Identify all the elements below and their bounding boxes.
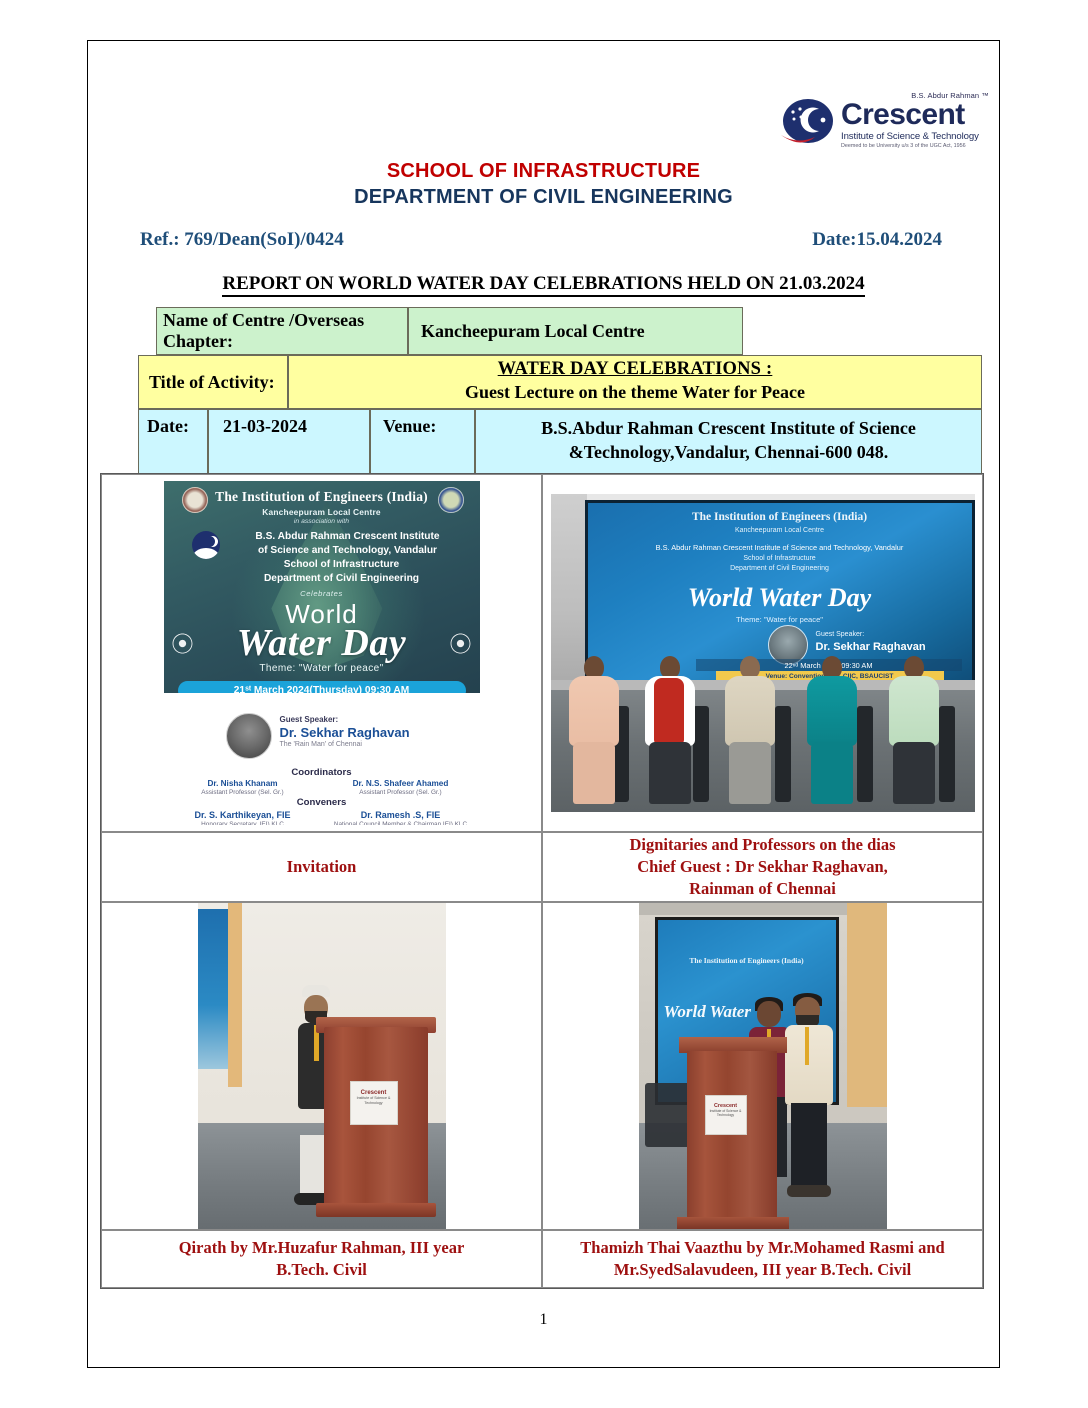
poster-speaker-tagline: The 'Rain Man' of Chennai xyxy=(280,741,362,748)
centre-value-cell: Kancheepuram Local Centre xyxy=(408,307,743,355)
thamizh-podium-base xyxy=(677,1217,789,1229)
poster-date-bar: 21ˢᵗ March 2024(Thursday) 09:30 AM xyxy=(178,681,466,693)
qirath-podium-plate: Crescent Institute of Science & Technolo… xyxy=(350,1081,398,1125)
qirath-podium-base xyxy=(316,1203,436,1217)
crescent-moon-star-logo-icon xyxy=(779,95,837,147)
venue-label-cell: Venue: xyxy=(370,409,475,483)
convener-role: National Council Member & Chairman IEI) … xyxy=(322,821,480,825)
department-name: DEPARTMENT OF CIVIL ENGINEERING xyxy=(88,185,999,211)
seated-person xyxy=(563,656,625,806)
qirath-caption-line1: Qirath by Mr.Huzafur Rahman, III year xyxy=(108,1237,535,1259)
document-date: Date:15.04.2024 xyxy=(812,229,942,251)
page-title: REPORT ON WORLD WATER DAY CELEBRATIONS H… xyxy=(88,273,999,295)
caption-row-2: Qirath by Mr.Huzafur Rahman, III year B.… xyxy=(101,1230,983,1288)
poster-top-panel: The Institution of Engineers (India) Kan… xyxy=(164,481,480,693)
document-page: B.S. Abdur Rahman ™ Crescent Institute o… xyxy=(87,40,1000,1368)
convener-role: Honorary Secretary, IEI) KLC xyxy=(164,821,322,825)
thamizh-podium-plate: Crescent Institute of Science & Technolo… xyxy=(705,1095,747,1135)
podium-plate-subtitle: Institute of Science & Technology xyxy=(706,1109,746,1118)
venue-line1: B.S.Abdur Rahman Crescent Institute of S… xyxy=(541,416,916,440)
dais-screen-worldwaterday: World Water Day xyxy=(588,583,972,613)
invitation-poster-image: The Institution of Engineers (India) Kan… xyxy=(164,481,480,825)
poster-theme-text: Theme: "Water for peace" xyxy=(164,663,480,674)
dais-screen-school: School of Infrastructure xyxy=(588,555,972,562)
page-number: 1 xyxy=(88,1311,999,1329)
date-value-cell: 21-03-2024 xyxy=(208,409,370,483)
crescent-logo: B.S. Abdur Rahman ™ Crescent Institute o… xyxy=(779,91,991,161)
dais-screen-guest-name: Dr. Sekhar Raghavan xyxy=(816,641,926,653)
dais-screen-title: The Institution of Engineers (India) xyxy=(588,511,972,523)
convener-name: Dr. Ramesh .S, FIE xyxy=(322,810,480,821)
photo-row-2: Crescent Institute of Science & Technolo… xyxy=(101,902,983,1230)
activity-info-table: Name of Centre /Overseas Chapter: Kanche… xyxy=(88,307,1001,483)
invitation-caption-cell: Invitation xyxy=(101,832,542,902)
coordinator-name: Dr. Nisha Khanam xyxy=(164,779,322,789)
qirath-caption-cell: Qirath by Mr.Huzafur Rahman, III year B.… xyxy=(101,1230,542,1288)
dignitaries-caption-line1: Dignitaries and Professors on the dias xyxy=(549,834,976,856)
dignitaries-on-dais-image: The Institution of Engineers (India) Kan… xyxy=(551,494,975,812)
reference-number: Ref.: 769/Dean(SoI)/0424 xyxy=(140,229,344,251)
qirath-wall-edge xyxy=(228,902,242,1087)
activity-title-line1: WATER DAY CELEBRATIONS : xyxy=(498,359,773,380)
thamizh-caption-line2: Mr.SyedSalavudeen, III year B.Tech. Civi… xyxy=(549,1259,976,1281)
activity-title-value-cell: WATER DAY CELEBRATIONS : Guest Lecture o… xyxy=(288,355,982,409)
poster-institute-line1: B.S. Abdur Rahman Crescent Institute xyxy=(224,531,472,542)
table-row-date-venue: Date: 21-03-2024 Venue: B.S.Abdur Rahman… xyxy=(88,409,1001,483)
date-label-cell: Date: xyxy=(138,409,208,483)
reference-date-row: Ref.: 769/Dean(SoI)/0424 Date:15.04.2024 xyxy=(140,229,942,251)
seated-person xyxy=(639,656,701,806)
qirath-recitation-image: Crescent Institute of Science & Technolo… xyxy=(198,902,446,1230)
table-row-title: Title of Activity: WATER DAY CELEBRATION… xyxy=(88,355,1001,409)
poster-celebrates-text: Celebrates xyxy=(164,589,480,598)
poster-school-line: School of Infrastructure xyxy=(212,559,472,570)
seated-person xyxy=(801,656,863,806)
dignitaries-caption-line2: Chief Guest : Dr Sekhar Raghavan, xyxy=(549,856,976,878)
seated-person xyxy=(719,656,781,806)
poster-speaker-label: Guest Speaker: xyxy=(280,715,339,724)
dais-screen-institute: B.S. Abdur Rahman Crescent Institute of … xyxy=(588,543,972,552)
poster-conveners-heading: Conveners xyxy=(164,797,480,808)
thamizh-chairs xyxy=(645,1083,693,1147)
poster-iei-title: The Institution of Engineers (India) xyxy=(164,489,480,505)
dignitaries-caption-line3: Rainman of Chennai xyxy=(549,878,976,900)
poster-waterday-text: Water Day xyxy=(164,621,480,665)
dais-screen-guest-label: Guest Speaker: xyxy=(816,631,865,638)
convener-name: Dr. S. Karthikeyan, FIE xyxy=(164,810,322,821)
qirath-photo-cell: Crescent Institute of Science & Technolo… xyxy=(101,902,542,1230)
invitation-caption: Invitation xyxy=(108,856,535,878)
thamizh-podium xyxy=(687,1051,777,1221)
podium-plate-subtitle: Institute of Science & Technology xyxy=(351,1096,397,1105)
speaker-portrait xyxy=(226,713,272,759)
poster-department-line: Department of Civil Engineering xyxy=(212,573,472,584)
photo-grid: The Institution of Engineers (India) Kan… xyxy=(100,473,984,1289)
dais-photo-cell: The Institution of Engineers (India) Kan… xyxy=(542,474,983,832)
dais-screen-theme: Theme: "Water for peace" xyxy=(588,615,972,624)
invitation-poster-cell: The Institution of Engineers (India) Kan… xyxy=(101,474,542,832)
logo-accreditation-text: Deemed to be University u/s 3 of the UGC… xyxy=(841,143,991,149)
poster-association-text: in association with xyxy=(164,518,480,525)
activity-title-line2: Guest Lecture on the theme Water for Pea… xyxy=(465,382,805,403)
poster-crescent-logo-icon xyxy=(192,531,220,559)
centre-label-cell: Name of Centre /Overseas Chapter: xyxy=(156,307,408,355)
thamizh-student-2 xyxy=(783,997,835,1201)
thamizh-wall-right xyxy=(847,902,887,1107)
poster-institute-line2: of Science and Technology, Vandalur xyxy=(224,545,472,556)
report-title-text: REPORT ON WORLD WATER DAY CELEBRATIONS H… xyxy=(222,273,864,297)
school-name: SCHOOL OF INFRASTRUCTURE xyxy=(88,159,999,185)
qirath-screen xyxy=(198,909,230,1069)
document-header: SCHOOL OF INFRASTRUCTURE DEPARTMENT OF C… xyxy=(88,159,999,210)
poster-bottom-panel: Guest Speaker: Dr. Sekhar Raghavan The '… xyxy=(164,693,480,825)
poster-conveners-row-1: Dr. S. Karthikeyan, FIE Honorary Secreta… xyxy=(164,810,480,825)
thamizh-photo-cell: The Institution of Engineers (India) Wor… xyxy=(542,902,983,1230)
thamizh-screen-title: The Institution of Engineers (India) xyxy=(658,956,836,965)
activity-title-label-cell: Title of Activity: xyxy=(138,355,288,409)
poster-speaker-name: Dr. Sekhar Raghavan xyxy=(280,725,410,740)
logo-wordmark: Crescent xyxy=(841,100,991,130)
thamizh-thai-vaazthu-image: The Institution of Engineers (India) Wor… xyxy=(639,902,887,1230)
qirath-caption-line2: B.Tech. Civil xyxy=(108,1259,535,1281)
poster-iei-centre: Kancheepuram Local Centre xyxy=(164,507,480,517)
caption-row-1: Invitation Dignitaries and Professors on… xyxy=(101,832,983,902)
seated-person xyxy=(883,656,945,806)
dignitaries-caption-cell: Dignitaries and Professors on the dias C… xyxy=(542,832,983,902)
thamizh-caption-cell: Thamizh Thai Vaazthu by Mr.Mohamed Rasmi… xyxy=(542,1230,983,1288)
poster-coordinators-row: Dr. Nisha Khanam Assistant Professor (Se… xyxy=(164,779,480,797)
logo-subtitle: Institute of Science & Technology xyxy=(841,131,991,142)
thamizh-caption-line1: Thamizh Thai Vaazthu by Mr.Mohamed Rasmi… xyxy=(549,1237,976,1259)
photo-row-1: The Institution of Engineers (India) Kan… xyxy=(101,474,983,832)
table-row-centre: Name of Centre /Overseas Chapter: Kanche… xyxy=(156,307,1001,355)
dais-screen-department: Department of Civil Engineering xyxy=(588,565,972,572)
dais-screen-subtitle: Kancheepuram Local Centre xyxy=(588,527,972,534)
venue-value-cell: B.S.Abdur Rahman Crescent Institute of S… xyxy=(475,409,982,483)
venue-line2: &Technology,Vandalur, Chennai-600 048. xyxy=(569,440,889,464)
poster-coordinators-heading: Coordinators xyxy=(164,767,480,778)
coordinator-name: Dr. N.S. Shafeer Ahamed xyxy=(322,779,480,789)
